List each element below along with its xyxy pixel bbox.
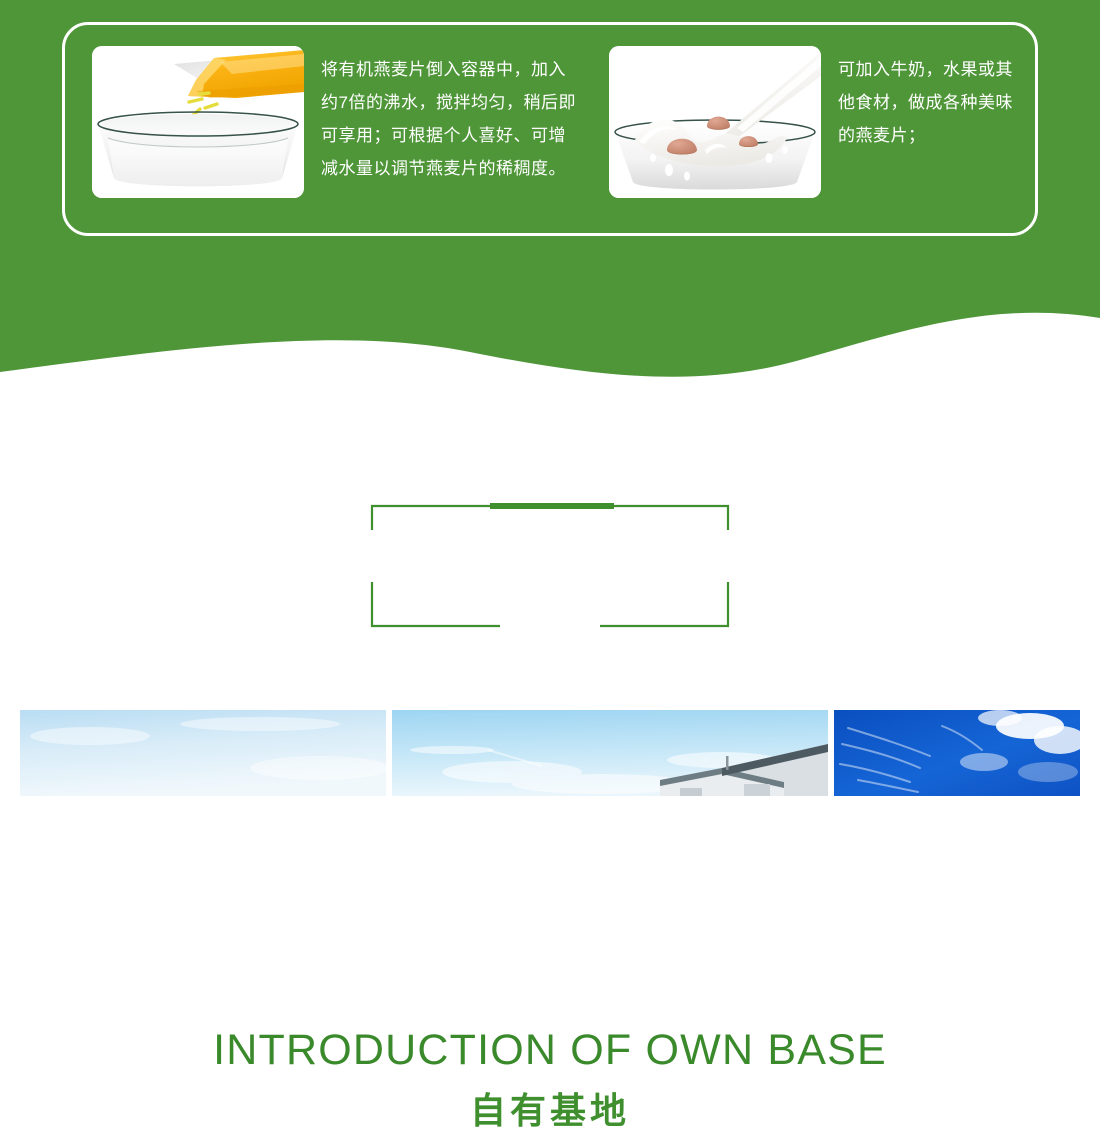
section-title-en: INTRODUCTION OF OWN BASE	[0, 1026, 1100, 1075]
photo-factory-building-under-blue-sky[interactable]	[392, 710, 828, 796]
instruction-card-2: 可加入牛奶，水果或其他食材，做成各种美味的燕麦片；	[609, 46, 1028, 198]
instruction-card-2-text: 可加入牛奶，水果或其他食材，做成各种美味的燕麦片；	[838, 53, 1028, 152]
section-title-cn: 自有基地	[0, 1082, 1100, 1134]
milk-splash-with-nuts-illustration	[609, 46, 821, 198]
hero-green-section: 将有机燕麦片倒入容器中，加入约7倍的沸水，搅拌均匀，稍后即可享用；可根据个人喜好…	[0, 0, 1100, 400]
photo-deep-blue-sky-with-clouds[interactable]	[834, 710, 1080, 796]
instruction-card-1: 将有机燕麦片倒入容器中，加入约7倍的沸水，搅拌均匀，稍后即可享用；可根据个人喜好…	[92, 46, 576, 198]
instruction-card-1-text: 将有机燕麦片倒入容器中，加入约7倍的沸水，搅拌均匀，稍后即可享用；可根据个人喜好…	[321, 53, 576, 185]
base-photo-strip	[0, 710, 1100, 796]
photo-sky-pale-gradient[interactable]	[20, 710, 386, 796]
product-detail-page: 将有机燕麦片倒入容器中，加入约7倍的沸水，搅拌均匀，稍后即可享用；可根据个人喜好…	[0, 0, 1100, 796]
section-header: INTRODUCTION OF OWN BASE 自有基地	[0, 480, 1100, 660]
section-bracket-decoration	[0, 480, 1100, 660]
pouring-oats-into-bowl-illustration	[92, 46, 304, 198]
